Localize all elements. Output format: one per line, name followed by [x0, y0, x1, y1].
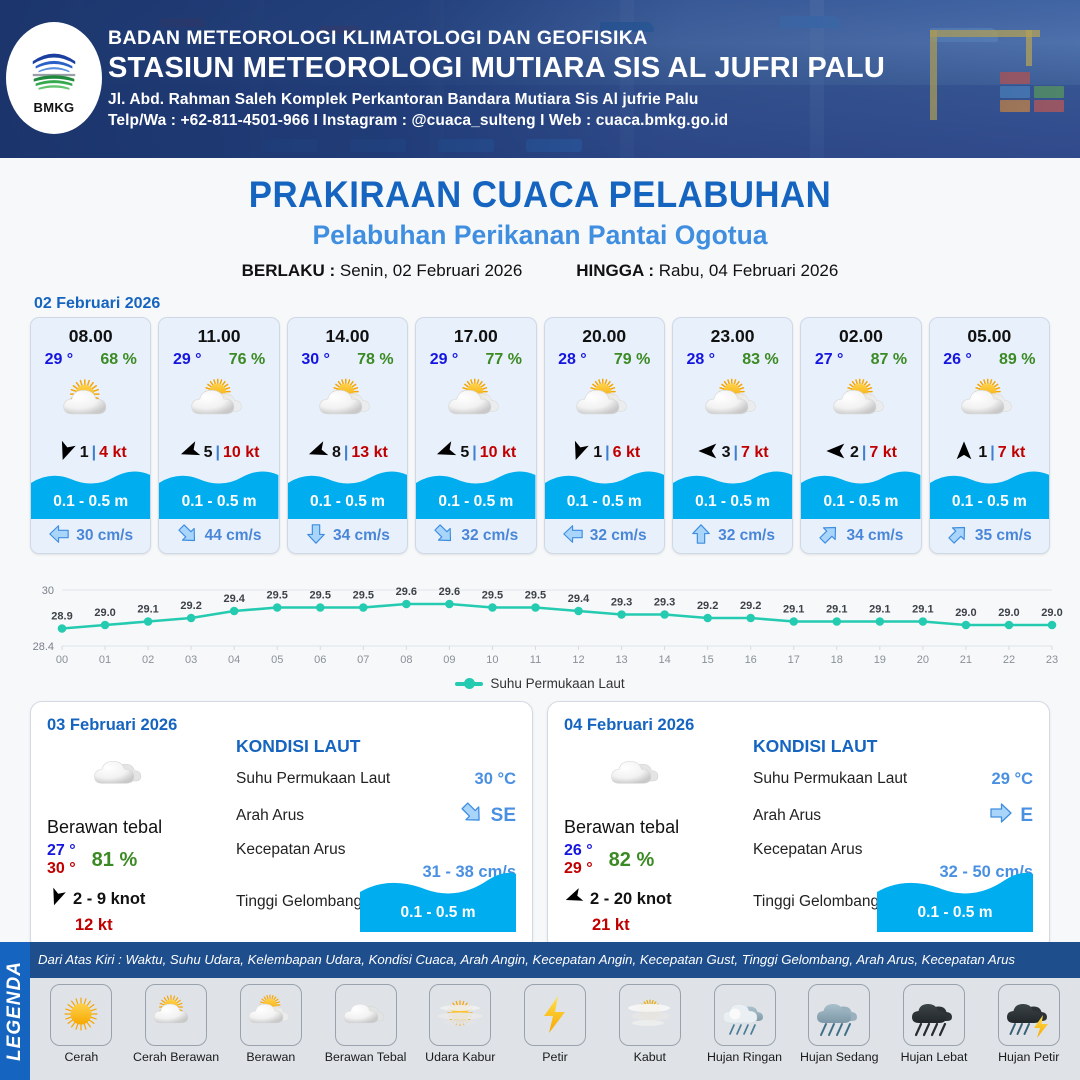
svg-text:06: 06 [314, 654, 326, 666]
agency-name: BADAN METEOROLOGI KLIMATOLOGI DAN GEOFIS… [108, 26, 885, 50]
card-current-speed: 30 cm/s [76, 527, 133, 545]
card-current-row: 34 cm/s [288, 519, 407, 553]
legend-section: LEGENDA Dari Atas Kiri : Waktu, Suhu Uda… [0, 942, 1080, 1080]
station-name: STASIUN METEOROLOGI MUTIARA SIS AL JUFRI… [108, 51, 885, 85]
card-current-speed: 32 cm/s [718, 527, 775, 545]
card-current-row: 32 cm/s [545, 519, 664, 553]
card-temperature: 29 ° [45, 351, 74, 369]
svg-text:29.3: 29.3 [611, 597, 632, 609]
current-direction-arrow-icon [433, 523, 455, 550]
berawan-icon [690, 373, 776, 435]
card-wind-row: 3 | 7 kt [673, 441, 792, 465]
card-wave-value: 0.1 - 0.5 m [930, 493, 1049, 511]
card-humidity: 87 % [871, 351, 907, 369]
card-wind-row: 2 | 7 kt [801, 441, 920, 465]
card-time: 23.00 [711, 326, 755, 347]
svg-text:29.3: 29.3 [654, 597, 675, 609]
svg-text:29.2: 29.2 [180, 600, 201, 612]
current-direction-arrow-icon [947, 523, 969, 550]
wind-direction-arrow-icon [179, 440, 201, 467]
card-wind-speed: 7 kt [741, 444, 769, 462]
hourly-card: 20.00 28 ° 79 % 1 | 6 kt [544, 317, 665, 554]
berlaku-group: BERLAKU : Senin, 02 Februari 2026 [242, 261, 523, 281]
card-wave-height: 0.1 - 0.5 m [416, 469, 535, 519]
legend-item-label: Cerah [64, 1050, 98, 1064]
sea-conditions-title: KONDISI LAUT [753, 736, 1033, 757]
wave-height-label: Tinggi Gelombang [753, 893, 879, 910]
hourly-card: 05.00 26 ° 89 % 1 | 7 kt [929, 317, 1050, 554]
card-wave-value: 0.1 - 0.5 m [545, 493, 664, 511]
svg-text:02: 02 [142, 654, 154, 666]
day-left-column: 04 Februari 2026 Berawan tebal 26 ° 29 ° [564, 716, 749, 936]
wind-direction-arrow-icon [47, 887, 67, 912]
wind-direction-arrow-icon [564, 887, 584, 912]
card-wind-direction: 5 [460, 444, 469, 462]
day-gust: 21 kt [592, 916, 749, 935]
svg-text:29.0: 29.0 [94, 607, 115, 619]
day-wave-value: 0.1 - 0.5 m [360, 904, 516, 922]
card-humidity: 89 % [999, 351, 1035, 369]
card-wind-separator: | [472, 444, 476, 462]
svg-text:29.2: 29.2 [697, 600, 718, 612]
day-date: 04 Februari 2026 [564, 716, 749, 735]
svg-text:11: 11 [530, 654, 541, 666]
hourly-card: 14.00 30 ° 78 % 8 | 13 kt [287, 317, 408, 554]
card-current-speed: 34 cm/s [333, 527, 390, 545]
svg-text:29.1: 29.1 [137, 604, 158, 616]
card-temperature: 27 ° [815, 351, 844, 369]
berawan-tebal-icon [77, 745, 163, 803]
day-gust: 12 kt [75, 916, 232, 935]
cerah-berawan-icon [48, 373, 134, 435]
card-wind-row: 1 | 6 kt [545, 441, 664, 465]
current-direction-value: SE [491, 805, 516, 827]
legend-item-label: Cerah Berawan [133, 1050, 219, 1064]
card-current-speed: 44 cm/s [205, 527, 262, 545]
card-wind-direction: 8 [332, 444, 341, 462]
day-wind-row: 2 - 9 knot [47, 887, 232, 912]
legend-item-label: Hujan Petir [998, 1050, 1059, 1064]
svg-text:14: 14 [658, 654, 670, 666]
card-wave-height: 0.1 - 0.5 m [673, 469, 792, 519]
current-direction-arrow-icon [177, 523, 199, 550]
svg-text:10: 10 [486, 654, 498, 666]
svg-text:16: 16 [745, 654, 757, 666]
svg-text:20: 20 [917, 654, 929, 666]
legend-items-row: Cerah Cerah Berawan [30, 978, 1080, 1080]
svg-text:29.6: 29.6 [396, 586, 417, 598]
hourly-date-label: 02 Februari 2026 [34, 295, 1080, 313]
card-current-speed: 32 cm/s [461, 527, 518, 545]
berawan-icon [304, 373, 390, 435]
svg-text:29.5: 29.5 [267, 590, 288, 602]
day-temp-min: 26 ° [564, 842, 593, 860]
svg-text:05: 05 [271, 654, 283, 666]
legend-side-bar: LEGENDA [0, 942, 30, 1080]
legend-item: Berawan Tebal [322, 984, 409, 1078]
bmkg-logo-text: BMKG [34, 100, 75, 115]
berawan-icon [433, 373, 519, 435]
card-wind-separator: | [344, 444, 348, 462]
station-address: Jl. Abd. Rahman Saleh Komplek Perkantora… [108, 91, 885, 109]
card-current-row: 32 cm/s [673, 519, 792, 553]
hujan-ringan-icon [714, 984, 776, 1046]
day-wave-value: 0.1 - 0.5 m [877, 904, 1033, 922]
kabut-icon [619, 984, 681, 1046]
card-humidity: 79 % [614, 351, 650, 369]
current-speed-label: Kecepatan Arus [236, 841, 345, 858]
day-condition: Berawan tebal [47, 817, 232, 838]
legend-item: Hujan Lebat [891, 984, 978, 1078]
legend-item-label: Kabut [634, 1050, 666, 1064]
card-wind-row: 8 | 13 kt [288, 441, 407, 465]
svg-text:29.4: 29.4 [568, 593, 590, 605]
current-direction-arrow-icon [48, 523, 70, 550]
current-direction-value: E [1020, 805, 1033, 827]
wind-direction-arrow-icon [697, 440, 719, 467]
legend-item: Petir [512, 984, 599, 1078]
card-time: 08.00 [69, 326, 113, 347]
legend-item: Berawan [227, 984, 314, 1078]
udara-kabur-icon [429, 984, 491, 1046]
card-temperature: 28 ° [686, 351, 715, 369]
svg-text:15: 15 [702, 654, 714, 666]
card-wind-direction: 1 [593, 444, 602, 462]
card-time: 17.00 [454, 326, 498, 347]
berlaku-label: BERLAKU : [242, 261, 336, 280]
svg-text:03: 03 [185, 654, 197, 666]
day-wind-row: 2 - 20 knot [564, 887, 749, 912]
card-wave-height: 0.1 - 0.5 m [31, 469, 150, 519]
card-time: 02.00 [839, 326, 883, 347]
hourly-card: 11.00 29 ° 76 % 5 | 10 kt [158, 317, 279, 554]
day-temp-max: 29 ° [564, 860, 593, 878]
svg-text:29.0: 29.0 [1041, 607, 1062, 619]
svg-text:29.4: 29.4 [223, 593, 245, 605]
svg-text:22: 22 [1003, 654, 1015, 666]
hujan-petir-icon [998, 984, 1060, 1046]
day-wave-height: 0.1 - 0.5 m [360, 870, 516, 932]
card-wind-direction: 5 [204, 444, 213, 462]
card-current-speed: 32 cm/s [590, 527, 647, 545]
svg-text:29.6: 29.6 [439, 586, 460, 598]
card-wave-height: 0.1 - 0.5 m [545, 469, 664, 519]
svg-text:29.1: 29.1 [826, 604, 847, 616]
svg-text:29.5: 29.5 [482, 590, 503, 602]
card-time: 11.00 [198, 326, 241, 347]
card-wind-row: 5 | 10 kt [416, 441, 535, 465]
page-header: BMKG BADAN METEOROLOGI KLIMATOLOGI DAN G… [0, 0, 1080, 158]
card-wind-speed: 10 kt [223, 444, 259, 462]
svg-text:12: 12 [572, 654, 584, 666]
hourly-card: 23.00 28 ° 83 % 3 | 7 kt [672, 317, 793, 554]
hingga-value: Rabu, 04 Februari 2026 [659, 261, 839, 280]
card-humidity: 76 % [229, 351, 265, 369]
day-temp-max: 30 ° [47, 860, 76, 878]
cerah-berawan-icon [145, 984, 207, 1046]
card-wind-direction: 2 [850, 444, 859, 462]
day-wave-height: 0.1 - 0.5 m [877, 870, 1033, 932]
hujan-sedang-icon [808, 984, 870, 1046]
card-current-speed: 34 cm/s [846, 527, 903, 545]
berawan-tebal-icon [335, 984, 397, 1046]
svg-text:29.1: 29.1 [912, 604, 933, 616]
current-direction-arrow-icon [459, 801, 485, 830]
berlaku-value: Senin, 02 Februari 2026 [340, 261, 522, 280]
sst-label: Suhu Permukaan Laut [236, 770, 390, 788]
svg-text:17: 17 [788, 654, 800, 666]
day-sea-conditions: KONDISI LAUT Suhu Permukaan Laut 29 °C A… [749, 716, 1033, 936]
legend-item: Cerah [38, 984, 125, 1078]
card-wind-separator: | [92, 444, 96, 462]
page-title: PRAKIRAAN CUACA PELABUHAN [32, 174, 1047, 216]
wave-height-label: Tinggi Gelombang [236, 893, 362, 910]
sst-value: 30 °C [475, 770, 516, 789]
card-wind-speed: 13 kt [351, 444, 387, 462]
svg-text:23: 23 [1046, 654, 1058, 666]
card-wave-height: 0.1 - 0.5 m [288, 469, 407, 519]
wind-direction-arrow-icon [435, 440, 457, 467]
hourly-card: 02.00 27 ° 87 % 2 | 7 kt [800, 317, 921, 554]
card-humidity: 78 % [357, 351, 393, 369]
svg-text:29.2: 29.2 [740, 600, 761, 612]
card-current-row: 30 cm/s [31, 519, 150, 553]
berawan-icon [818, 373, 904, 435]
current-direction-label: Arah Arus [753, 807, 821, 825]
cerah-icon [50, 984, 112, 1046]
svg-text:07: 07 [357, 654, 369, 666]
card-humidity: 68 % [100, 351, 136, 369]
card-time: 20.00 [582, 326, 626, 347]
legend-item: Kabut [606, 984, 693, 1078]
card-time: 05.00 [967, 326, 1011, 347]
hourly-card: 17.00 29 ° 77 % 5 | 10 kt [415, 317, 536, 554]
sst-label: Suhu Permukaan Laut [753, 770, 907, 788]
card-wind-row: 1 | 7 kt [930, 441, 1049, 465]
daily-forecast-card: 04 Februari 2026 Berawan tebal 26 ° 29 ° [547, 701, 1050, 951]
svg-text:04: 04 [228, 654, 240, 666]
hujan-lebat-icon [903, 984, 965, 1046]
card-wind-separator: | [216, 444, 220, 462]
svg-text:29.5: 29.5 [353, 590, 374, 602]
card-wind-row: 1 | 4 kt [31, 441, 150, 465]
day-sea-conditions: KONDISI LAUT Suhu Permukaan Laut 30 °C A… [232, 716, 516, 936]
berawan-icon [561, 373, 647, 435]
card-wind-direction: 1 [80, 444, 89, 462]
svg-text:01: 01 [99, 654, 111, 666]
card-wind-direction: 1 [978, 444, 987, 462]
bmkg-logo-mark [25, 42, 83, 98]
legend-item-label: Hujan Lebat [901, 1050, 968, 1064]
day-humidity: 82 % [609, 849, 655, 872]
hourly-card: 08.00 29 ° 68 % 1 | 4 kt [30, 317, 151, 554]
svg-text:29.0: 29.0 [955, 607, 976, 619]
day-date: 03 Februari 2026 [47, 716, 232, 735]
legend-item-label: Hujan Sedang [800, 1050, 879, 1064]
legend-item: Hujan Sedang [796, 984, 883, 1078]
card-wind-separator: | [733, 444, 737, 462]
svg-text:29.5: 29.5 [310, 590, 331, 602]
svg-text:28.9: 28.9 [51, 611, 72, 623]
current-direction-arrow-icon [305, 523, 327, 550]
current-direction-arrow-icon [988, 801, 1014, 830]
legend-item-label: Udara Kabur [425, 1050, 495, 1064]
berawan-icon [946, 373, 1032, 435]
card-humidity: 77 % [485, 351, 521, 369]
wind-direction-arrow-icon [307, 440, 329, 467]
card-wind-speed: 10 kt [480, 444, 516, 462]
day-humidity: 81 % [92, 849, 138, 872]
sea-conditions-title: KONDISI LAUT [236, 736, 516, 757]
day-temp-group: 26 ° 29 ° 82 % [564, 842, 749, 879]
svg-text:13: 13 [615, 654, 627, 666]
hourly-forecast-row: 08.00 29 ° 68 % 1 | 4 kt [0, 317, 1080, 554]
svg-text:00: 00 [56, 654, 68, 666]
page-subtitle: Pelabuhan Perikanan Pantai Ogotua [0, 220, 1080, 251]
card-wind-speed: 6 kt [613, 444, 641, 462]
chart-legend: Suhu Permukaan Laut [0, 676, 1080, 691]
card-wave-height: 0.1 - 0.5 m [930, 469, 1049, 519]
card-wave-value: 0.1 - 0.5 m [288, 493, 407, 511]
svg-text:21: 21 [960, 654, 972, 666]
legend-item-label: Berawan Tebal [325, 1050, 407, 1064]
berawan-icon [240, 984, 302, 1046]
station-contact: Telp/Wa : +62-811-4501-966 I Instagram :… [108, 112, 885, 130]
card-wave-value: 0.1 - 0.5 m [416, 493, 535, 511]
day-wind-range: 2 - 20 knot [590, 890, 672, 909]
legend-item: Hujan Ringan [701, 984, 788, 1078]
legend-item: Cerah Berawan [133, 984, 220, 1078]
card-current-speed: 35 cm/s [975, 527, 1032, 545]
sst-value: 29 °C [992, 770, 1033, 789]
svg-text:29.1: 29.1 [783, 604, 804, 616]
daily-forecast-card: 03 Februari 2026 Berawan tebal 27 ° 30 ° [30, 701, 533, 951]
berawan-tebal-icon [594, 745, 680, 803]
legend-note: Dari Atas Kiri : Waktu, Suhu Udara, Kele… [38, 952, 1074, 967]
legend-item-label: Petir [542, 1050, 567, 1064]
card-temperature: 28 ° [558, 351, 587, 369]
svg-text:29.0: 29.0 [998, 607, 1019, 619]
card-wind-separator: | [605, 444, 609, 462]
petir-icon [524, 984, 586, 1046]
legend-marker-icon [455, 682, 483, 686]
svg-text:18: 18 [831, 654, 843, 666]
day-temp-min: 27 ° [47, 842, 76, 860]
svg-text:29.1: 29.1 [869, 604, 890, 616]
day-left-column: 03 Februari 2026 Berawan tebal 27 ° 30 ° [47, 716, 232, 936]
card-wind-separator: | [990, 444, 994, 462]
card-wave-value: 0.1 - 0.5 m [801, 493, 920, 511]
daily-forecast-row: 03 Februari 2026 Berawan tebal 27 ° 30 ° [0, 701, 1080, 951]
hingga-label: HINGGA : [576, 261, 654, 280]
current-direction-arrow-icon [562, 523, 584, 550]
card-time: 14.00 [326, 326, 370, 347]
card-wave-height: 0.1 - 0.5 m [801, 469, 920, 519]
current-speed-label: Kecepatan Arus [753, 841, 862, 858]
card-temperature: 29 ° [173, 351, 202, 369]
card-wind-speed: 7 kt [869, 444, 897, 462]
wind-direction-arrow-icon [953, 440, 975, 467]
legend-item-label: Berawan [246, 1050, 295, 1064]
card-current-row: 32 cm/s [416, 519, 535, 553]
wind-direction-arrow-icon [568, 440, 590, 467]
card-wind-speed: 4 kt [99, 444, 127, 462]
current-direction-label: Arah Arus [236, 807, 304, 825]
day-condition: Berawan tebal [564, 817, 749, 838]
day-temp-group: 27 ° 30 ° 81 % [47, 842, 232, 879]
card-wave-value: 0.1 - 0.5 m [159, 493, 278, 511]
day-wind-range: 2 - 9 knot [73, 890, 145, 909]
card-humidity: 83 % [742, 351, 778, 369]
svg-text:29.5: 29.5 [525, 590, 546, 602]
validity-row: BERLAKU : Senin, 02 Februari 2026 HINGGA… [0, 261, 1080, 281]
svg-text:19: 19 [874, 654, 886, 666]
legend-label: Suhu Permukaan Laut [490, 676, 624, 691]
current-direction-arrow-icon [818, 523, 840, 550]
card-wave-height: 0.1 - 0.5 m [159, 469, 278, 519]
card-current-row: 44 cm/s [159, 519, 278, 553]
card-temperature: 29 ° [430, 351, 459, 369]
hingga-group: HINGGA : Rabu, 04 Februari 2026 [576, 261, 838, 281]
sst-chart: 3028.428.90029.00129.10229.20329.40429.5… [14, 564, 1066, 674]
legend-item: Udara Kabur [417, 984, 504, 1078]
card-wind-direction: 3 [722, 444, 731, 462]
svg-text:08: 08 [400, 654, 412, 666]
card-wind-row: 5 | 10 kt [159, 441, 278, 465]
svg-text:09: 09 [443, 654, 455, 666]
berawan-icon [176, 373, 262, 435]
legend-item-label: Hujan Ringan [707, 1050, 782, 1064]
card-wind-speed: 7 kt [998, 444, 1026, 462]
header-text-block: BADAN METEOROLOGI KLIMATOLOGI DAN GEOFIS… [108, 26, 885, 130]
svg-text:28.4: 28.4 [33, 641, 54, 653]
wind-direction-arrow-icon [825, 440, 847, 467]
svg-text:30: 30 [42, 585, 54, 597]
card-current-row: 34 cm/s [801, 519, 920, 553]
card-wave-value: 0.1 - 0.5 m [673, 493, 792, 511]
legend-side-label: LEGENDA [4, 961, 26, 1061]
card-wave-value: 0.1 - 0.5 m [31, 493, 150, 511]
legend-item: Hujan Petir [985, 984, 1072, 1078]
card-temperature: 30 ° [301, 351, 330, 369]
bmkg-logo: BMKG [6, 22, 102, 134]
card-temperature: 26 ° [943, 351, 972, 369]
wind-direction-arrow-icon [55, 440, 77, 467]
current-direction-arrow-icon [690, 523, 712, 550]
card-wind-separator: | [862, 444, 866, 462]
card-current-row: 35 cm/s [930, 519, 1049, 553]
